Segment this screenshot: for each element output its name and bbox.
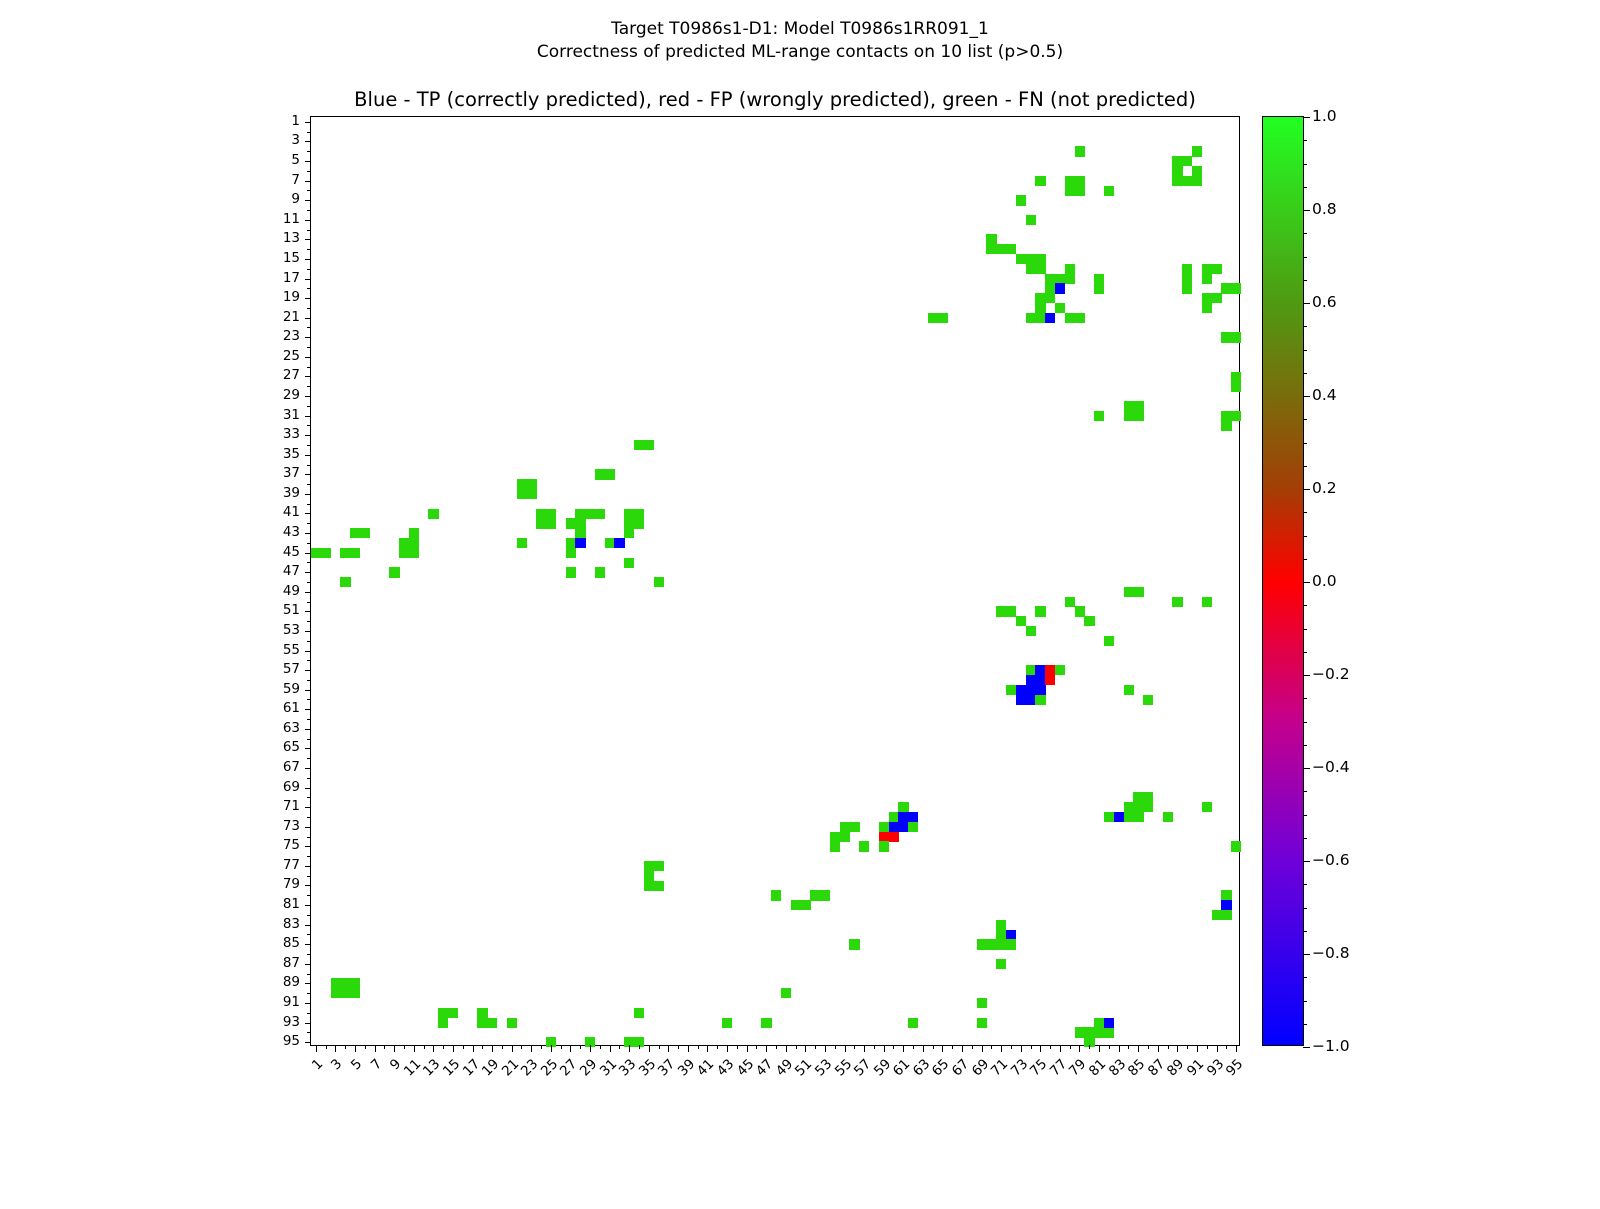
colorbar-tick-label: 0.0: [1312, 572, 1337, 590]
colorbar-gradient: [1263, 117, 1303, 1045]
colorbar-tick-label: −0.8: [1312, 944, 1350, 962]
colorbar-tick-label: −0.4: [1312, 758, 1350, 776]
colorbar-tick-label: 1.0: [1312, 107, 1337, 125]
x-axis-labels: 1357911131517192123252729313335373941434…: [0, 0, 1600, 1200]
colorbar-tick-label: −0.2: [1312, 665, 1350, 683]
colorbar-tick-label: −1.0: [1312, 1037, 1350, 1055]
colorbar-tick-label: 0.2: [1312, 479, 1337, 497]
figure-canvas: Target T0986s1-D1: Model T0986s1RR091_1C…: [0, 0, 1600, 1200]
colorbar-tick-label: 0.8: [1312, 200, 1337, 218]
colorbar-tick-label: −0.6: [1312, 851, 1350, 869]
colorbar-tick-label: 0.4: [1312, 386, 1337, 404]
colorbar[interactable]: [1262, 116, 1304, 1046]
colorbar-tick-label: 0.6: [1312, 293, 1337, 311]
